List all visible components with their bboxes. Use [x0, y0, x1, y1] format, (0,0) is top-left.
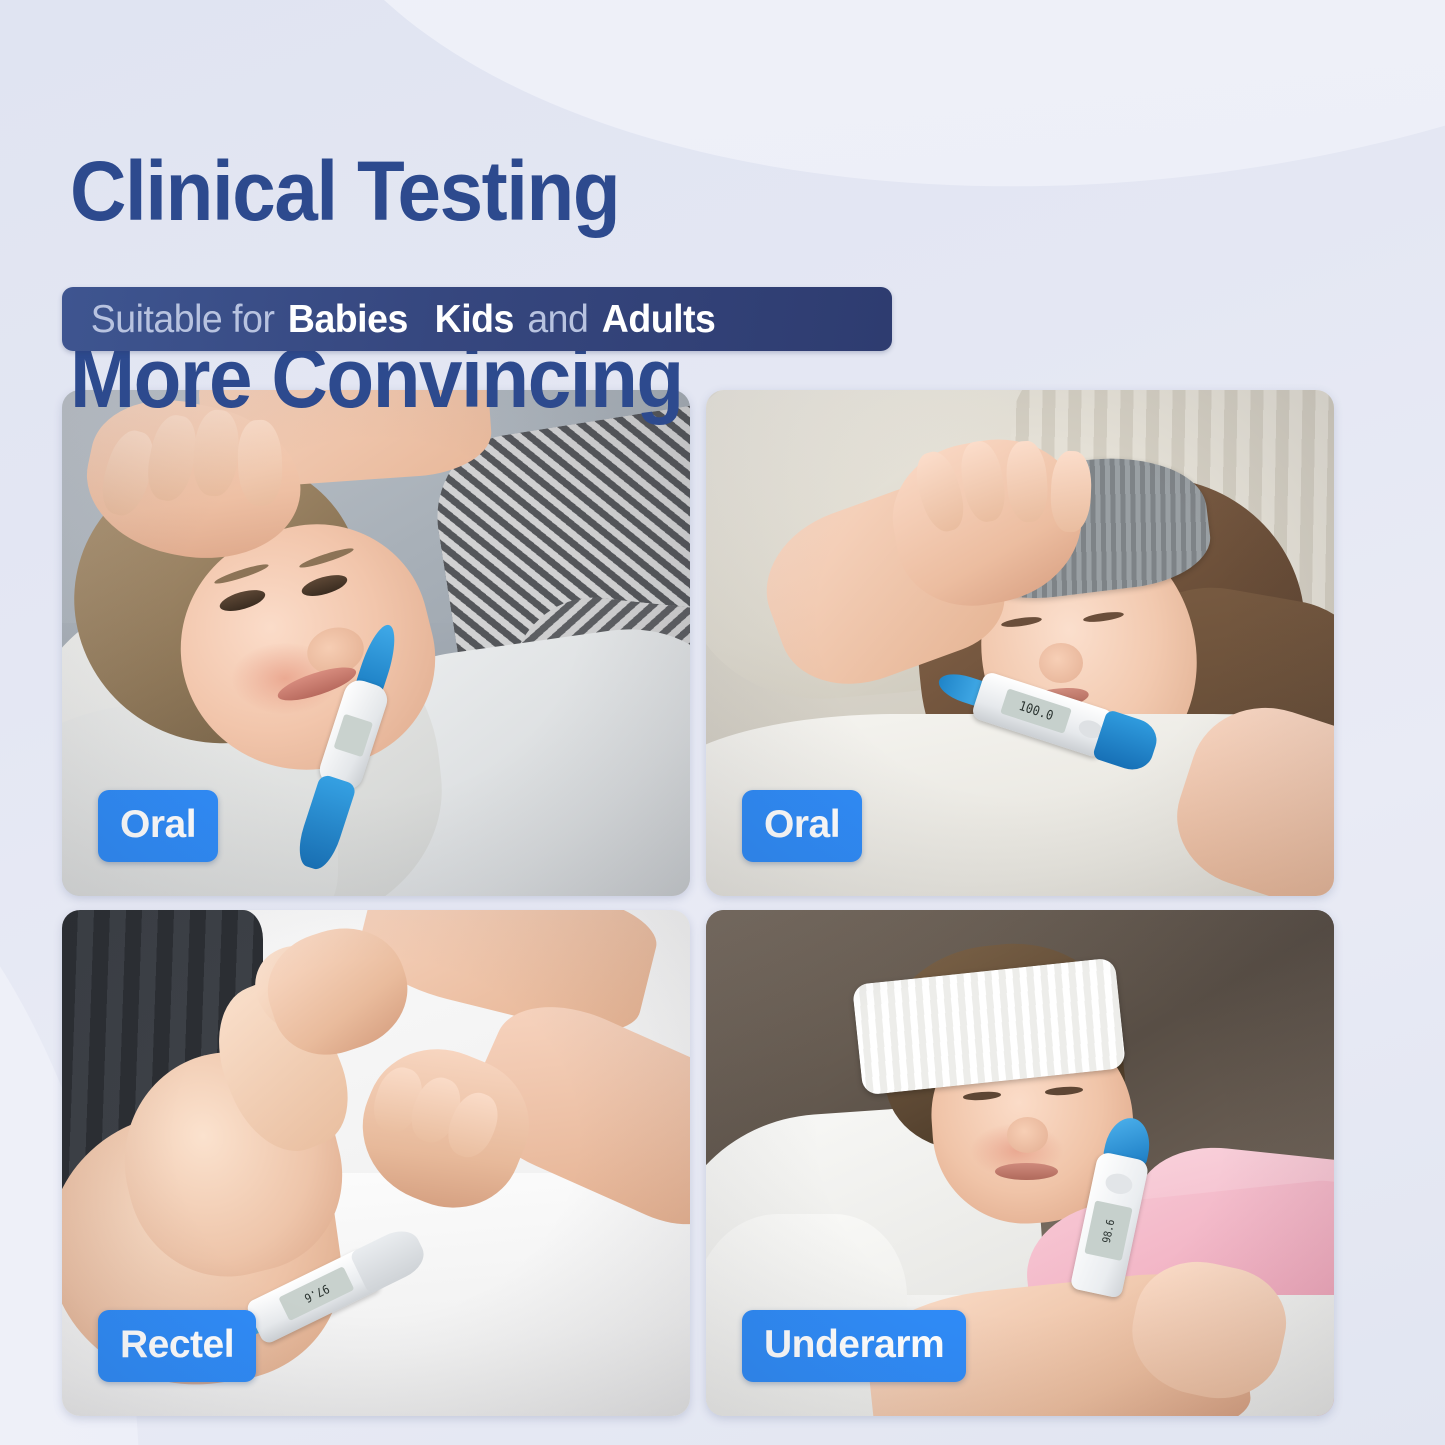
badge-oral-woman: Oral [742, 790, 862, 862]
suitability-banner-text: Suitable forBabiesKidsandAdults [62, 300, 715, 339]
product-marketing-poster: Clinical Testing More Convincing Suitabl… [0, 0, 1445, 1445]
photo-card-child-underarm: 98.6 Underarm [706, 910, 1334, 1416]
photo-card-baby-rectal: 97.6 Rectel [62, 910, 690, 1416]
badge-oral-child: Oral [98, 790, 218, 862]
page-title: Clinical Testing More Convincing [70, 52, 1000, 518]
thermometer-reading-baby: 97.6 [302, 1282, 332, 1306]
banner-word-babies: Babies [288, 298, 408, 341]
banner-word-kids: Kids [435, 298, 514, 341]
usage-photo-grid: Oral [62, 390, 1323, 1416]
banner-word-adults: Adults [602, 298, 716, 341]
headline-line-1: Clinical Testing [70, 145, 1000, 238]
banner-prefix: Suitable for [91, 298, 275, 341]
badge-underarm-child: Underarm [742, 1310, 966, 1382]
suitability-banner: Suitable forBabiesKidsandAdults [62, 287, 892, 351]
badge-rectal-baby: Rectel [98, 1310, 256, 1382]
thermometer-reading-child: 98.6 [1100, 1217, 1118, 1243]
thermometer-reading-woman: 100.0 [1017, 698, 1055, 723]
banner-conjunction: and [527, 298, 588, 341]
